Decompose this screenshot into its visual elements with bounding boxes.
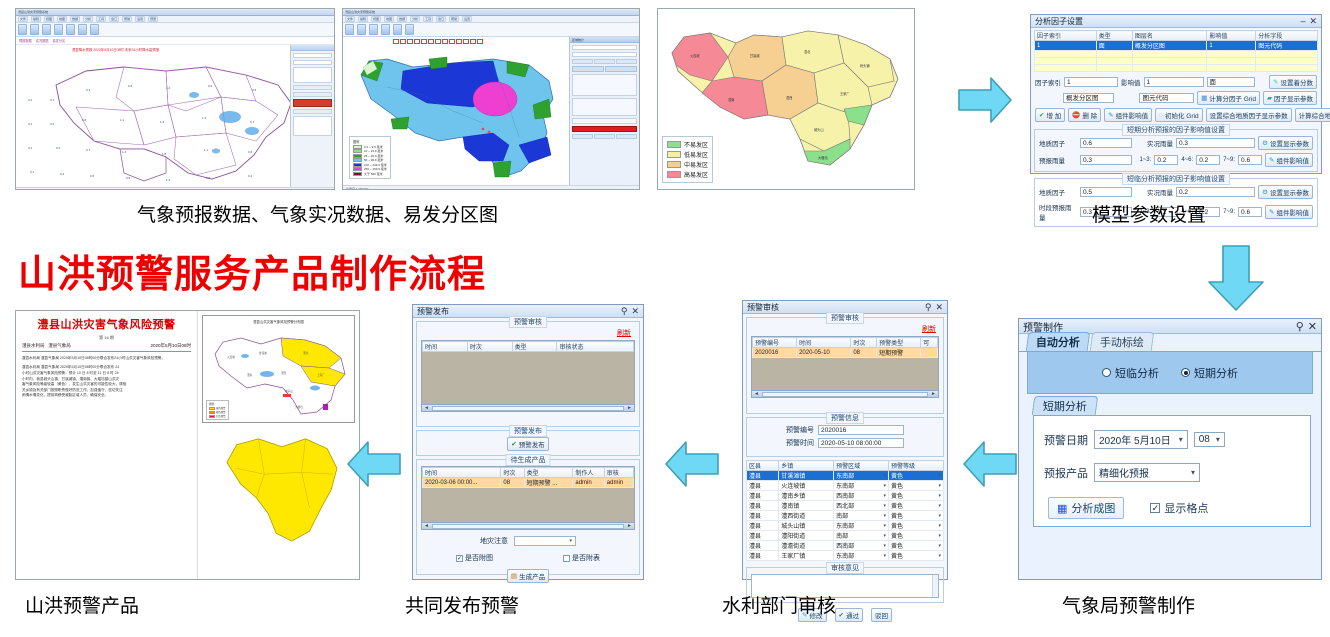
product-table-header: 时间时次类型制作人审核 <box>423 468 634 478</box>
svg-text:0.5: 0.5 <box>252 88 257 92</box>
table-row[interactable]: 澧县甘溪滩镇东南部▾黄色▾ <box>747 471 944 481</box>
radio-nowcast-analysis[interactable]: 短临分析 <box>1102 365 1159 381</box>
close-icon[interactable]: ✕ <box>1308 320 1317 333</box>
legend-swatch <box>667 151 681 158</box>
legend-label: 高易发区 <box>684 170 708 179</box>
analysis-mode-radios[interactable]: 短临分析 短期分析 <box>1027 352 1313 394</box>
table-cell <box>1035 65 1097 72</box>
set-display-param-button[interactable]: ⚙设置显示参数 <box>1258 136 1313 150</box>
menu-item[interactable]: 地图 <box>384 16 394 22</box>
component-influence-button[interactable]: ✎组件影响值 <box>1104 108 1152 122</box>
doc-body-line: 雨情水情变化，提前转移受威胁区域人员，确保安全。 <box>22 393 191 399</box>
seg-1-input[interactable]: 0.2 <box>1154 155 1178 165</box>
table-row[interactable]: 澧县澧南镇西北部▾黄色▾ <box>747 501 944 511</box>
refresh-link[interactable]: 刷新 <box>617 330 631 337</box>
table-cell[interactable]: 黄色▾ <box>889 531 944 541</box>
screenshot-warning-product[interactable]: 澧县山洪灾害气象风险预警 第 16 期 澧县水利局 澧县气象局 2020年5月1… <box>15 310 360 580</box>
tab-shortterm[interactable]: 短期分析 <box>1032 396 1099 415</box>
scroll-left-arrow[interactable]: ◄ <box>752 391 761 397</box>
table-cell[interactable]: 黄色▾ <box>889 551 944 561</box>
product-map-legend: 图例黄色预警橙色预警红色预警 <box>206 400 229 420</box>
table-cell: 澧县 <box>747 501 779 511</box>
product-doc-title: 澧县山洪灾害气象风险预警 <box>22 316 191 332</box>
column-header[interactable]: 预警类型 <box>877 338 921 348</box>
factor-dialog-titlebar: 分析因子设置 – ✕ <box>1031 15 1321 28</box>
attach-table-checkbox[interactable]: 是否附表 <box>563 553 600 563</box>
reject-button[interactable]: 驳回 <box>871 608 892 622</box>
checkbox-box: ✓ <box>456 555 463 562</box>
svg-text:1.4: 1.4 <box>122 150 127 154</box>
product-warning-area-map <box>214 429 344 547</box>
audit-info-group: 预警信息 预警编号 2020016 预警时间 2020-05-10 08:00:… <box>746 417 944 457</box>
menu-item[interactable]: 地图 <box>57 16 67 22</box>
table-row[interactable]: 2020-03-06 00:00...08短期预警 ...adminadmin <box>423 478 634 488</box>
menu-item[interactable]: 窗口 <box>436 16 446 22</box>
svg-text:城头山: 城头山 <box>814 127 824 132</box>
legend-swatch <box>667 141 681 148</box>
table-row[interactable]: 澧县澧西街道南部▾黄色▾ <box>747 511 944 521</box>
gis-menubar[interactable]: 文件 编辑 视图 地图 数据 分析 工具 窗口 帮助 设置 预警 <box>16 16 334 23</box>
table-row[interactable] <box>1035 51 1318 58</box>
menu-item[interactable]: 帮助 <box>122 16 132 22</box>
svg-text:1.6: 1.6 <box>160 120 165 124</box>
set-score-param-button[interactable]: ✎ 设置着分数 <box>1269 75 1317 89</box>
legend-label: 25 ~ 49.9 毫米 <box>364 154 383 158</box>
release-audit-table[interactable]: 时间时次类型审核状态 <box>422 341 634 352</box>
minimize-icon[interactable]: – <box>1300 16 1305 26</box>
table-cell: 澧县 <box>747 551 779 561</box>
arrow-left-3 <box>958 434 1020 499</box>
chevron-down-icon: ▾ <box>1191 468 1195 477</box>
close-icon[interactable]: ✕ <box>1309 16 1317 27</box>
svg-text:0.9: 0.9 <box>126 176 131 180</box>
chevron-down-icon: ▾ <box>938 513 941 519</box>
svg-text:0.6: 0.6 <box>248 150 253 154</box>
svg-text:0.1: 0.1 <box>28 146 33 150</box>
table-cell[interactable]: 黄色▾ <box>889 511 944 521</box>
group-label: 预警审核 <box>826 312 864 324</box>
geo-factor-input[interactable]: 0.6 <box>1080 138 1132 148</box>
screenshot-observed-data[interactable]: 澧县山洪灾害预警系统 文件 编辑 视图 地图 数据 分析 工具 窗口 帮助 设置 <box>342 8 640 190</box>
menu-item[interactable]: 工具 <box>96 16 106 22</box>
warn-hour-select[interactable]: 08 ▾ <box>1194 432 1225 447</box>
menu-item[interactable]: 视图 <box>44 16 54 22</box>
svg-text:大堰垱: 大堰垱 <box>295 405 303 409</box>
column-header[interactable]: 预警等级 <box>889 461 944 471</box>
toolbar-icon[interactable] <box>54 24 63 35</box>
component-influence-button-3[interactable]: ✎组件影响值 <box>1265 205 1313 219</box>
svg-text:城头山: 城头山 <box>285 389 293 393</box>
menu-item[interactable]: 帮助 <box>449 16 459 22</box>
svg-text:澧南: 澧南 <box>728 97 734 102</box>
table-cell[interactable]: 东南部▾ <box>834 481 889 491</box>
table-cell[interactable]: 黄色▾ <box>889 501 944 511</box>
menu-item[interactable]: 分析 <box>410 16 420 22</box>
table-cell: 城头山镇 <box>779 521 834 531</box>
scroll-right-arrow[interactable]: ► <box>625 523 634 529</box>
detail-table-body[interactable]: 澧县甘溪滩镇东南部▾黄色▾澧县火连坡镇东南部▾黄色▾澧县澧南乡镇西南部▾黄色▾澧… <box>747 471 944 561</box>
type-select[interactable]: 面 <box>1207 77 1255 87</box>
check-icon: ✔ <box>511 440 516 448</box>
init-grid-button[interactable]: ◌初始化 Grid <box>1155 108 1202 122</box>
column-header[interactable]: 时次 <box>467 342 512 352</box>
table-cell: 澧县 <box>747 521 779 531</box>
grid-icon: ▦ <box>1057 502 1066 515</box>
svg-text:王家厂: 王家厂 <box>317 373 325 377</box>
column-header[interactable]: 时间 <box>797 338 851 348</box>
menu-item[interactable]: 分析 <box>83 16 93 22</box>
release-button[interactable]: ✔ 预警发布 <box>507 437 548 451</box>
release-action-group: 预警发布 ✔ 预警发布 <box>416 430 640 456</box>
obs-rain-label-2: 实况雨量 <box>1135 187 1173 197</box>
svg-text:0.1: 0.1 <box>50 98 55 102</box>
svg-text:0.2: 0.2 <box>56 146 61 150</box>
table-row[interactable]: 澧县澧阳街道南部▾黄色▾ <box>747 531 944 541</box>
table-row[interactable]: 20200162020-05-1008短期预警 <box>753 348 938 358</box>
pin-icon[interactable]: ⚲ <box>621 306 628 317</box>
caption-source-data: 气象预报数据、气象实况数据、易发分区图 <box>137 200 498 227</box>
legend-swatch <box>209 415 215 418</box>
table-cell[interactable]: 黄色▾ <box>889 471 944 481</box>
toolbar-icon[interactable] <box>381 24 390 35</box>
column-header[interactable]: 审核状态 <box>557 342 634 352</box>
svg-text:澧北: 澧北 <box>303 351 309 355</box>
influence-label: 影响值 <box>1121 77 1141 87</box>
group-label: 预警信息 <box>826 412 864 424</box>
warn-date-label: 预警日期 <box>1044 432 1088 448</box>
delete-button[interactable]: ⛔删 除 <box>1068 108 1101 122</box>
column-header[interactable]: 可 <box>921 338 938 348</box>
chevron-down-icon: ▾ <box>884 523 887 529</box>
svg-text:0.2: 0.2 <box>28 98 33 102</box>
legend-swatch <box>353 172 362 176</box>
table-cell[interactable]: 黄色▾ <box>889 481 944 491</box>
table-cell <box>1096 51 1132 58</box>
column-header[interactable]: 乡镇 <box>779 461 834 471</box>
disaster-note-select[interactable]: ▾ <box>514 536 576 546</box>
toolbar-icon[interactable] <box>78 24 87 35</box>
gis2-toolbar[interactable] <box>343 23 639 37</box>
show-grid-checkbox[interactable]: ✓ 显示格点 <box>1150 500 1208 516</box>
arrow-left-2 <box>660 434 722 499</box>
svg-text:澧西: 澧西 <box>786 95 792 100</box>
legend-title: 图例 <box>353 139 387 144</box>
svg-text:澧西: 澧西 <box>281 371 287 375</box>
toolbar-icon[interactable] <box>42 24 51 35</box>
menu-item[interactable]: 窗口 <box>109 16 119 22</box>
seg-2-label: 4~6: <box>1181 157 1193 163</box>
column-header[interactable]: 预警编号 <box>753 338 797 348</box>
tab-auto-analysis[interactable]: 自动分析 <box>1026 332 1091 351</box>
factor-display-param-button[interactable]: ▰ 因子显示参数 <box>1263 91 1317 105</box>
seg-3-input-2[interactable]: 0.6 <box>1238 207 1262 217</box>
table-cell <box>1207 65 1256 72</box>
calc-factor-grid-button[interactable]: ▦ 计算分因子 Grid <box>1197 91 1260 105</box>
column-header[interactable]: 分析字段 <box>1256 31 1318 41</box>
attach-map-checkbox[interactable]: ✓ 是否附图 <box>456 553 493 563</box>
gis2-window-titlebar: 澧县山洪灾害预警系统 <box>343 9 639 16</box>
shortterm-form[interactable]: 预警日期 2020年 5月10日 ▾ 08 ▾ 预报产品 精细化预报 ▾ <box>1033 415 1311 527</box>
chevron-down-icon: ▾ <box>884 493 887 499</box>
table-row[interactable]: 澧县王家厂镇东南部▾黄色▾ <box>747 551 944 561</box>
svg-text:0.8: 0.8 <box>82 118 87 122</box>
toolbar-icon[interactable] <box>90 24 99 35</box>
toolbar-icon[interactable] <box>405 24 414 35</box>
rainfall-legend: 图例 0.1 ~ 9.9 毫米10 ~ 24.9 毫米25 ~ 49.9 毫米5… <box>349 136 391 180</box>
svg-text:王家厂: 王家厂 <box>840 91 850 96</box>
gis-tab[interactable]: 易发分区 <box>53 38 66 43</box>
make-subtabstrip[interactable]: 短期分析 <box>1019 398 1321 415</box>
warn-id-input[interactable]: 2020016 <box>818 425 904 435</box>
menu-item[interactable]: 预警 <box>148 16 158 22</box>
menu-item[interactable]: 编辑 <box>31 16 41 22</box>
tab-manual-draw[interactable]: 手动标绘 <box>1090 332 1155 351</box>
column-header[interactable]: 类型 <box>512 342 557 352</box>
gis-side-panel[interactable] <box>290 45 334 187</box>
add-button[interactable]: ✔增 加 <box>1035 108 1065 122</box>
svg-text:0.4: 0.4 <box>248 174 253 178</box>
table-cell[interactable]: 南部▾ <box>834 531 889 541</box>
rainfall-map-canvas[interactable]: 图例 0.1 ~ 9.9 毫米10 ~ 24.9 毫米25 ~ 49.9 毫米5… <box>343 37 639 185</box>
column-header[interactable]: 类型 <box>524 468 573 478</box>
seg-3-label: 7~9: <box>1223 157 1235 163</box>
table-cell: 1 <box>1035 41 1097 51</box>
svg-text:1.2: 1.2 <box>166 178 171 182</box>
table-cell[interactable]: 东南部▾ <box>834 521 889 531</box>
gis-tab[interactable]: 实况数据 <box>36 38 49 43</box>
table-cell[interactable]: 东南部▾ <box>834 471 889 481</box>
scroll-left-arrow[interactable]: ◄ <box>422 523 431 529</box>
factor-table[interactable]: 因子索引类型图层名影响值分析字段 1面概发分区图1图元代码 <box>1034 30 1318 72</box>
toolbar-icon[interactable] <box>369 24 378 35</box>
legend-item: 高易发区 <box>667 170 708 179</box>
product-doc-meta-left: 澧县水利局 澧县气象局 <box>22 343 71 349</box>
audit-table[interactable]: 预警编号时间时次预警类型可 20200162020-05-1008短期预警 <box>752 337 938 358</box>
legend-item: 100 ~ 249.9 毫米 <box>353 163 387 167</box>
generate-product-button[interactable]: ▤ 生成产品 <box>507 569 549 583</box>
toolbar-icon[interactable] <box>30 24 39 35</box>
svg-text:0.6: 0.6 <box>128 84 133 88</box>
toolbar-icon[interactable] <box>66 24 75 35</box>
table-cell: admin <box>604 478 633 488</box>
chevron-down-icon: ▾ <box>884 533 887 539</box>
geo-factor-input-2[interactable]: 0.5 <box>1080 187 1132 197</box>
svg-text:火连坡: 火连坡 <box>690 53 700 58</box>
table-row[interactable]: 1面概发分区图1图元代码 <box>1035 41 1318 51</box>
warning-audit-panel[interactable]: 预警审核 ⚲ ✕ 预警审核 刷新 预警编号时间时次预警类型可 202001620… <box>742 300 948 580</box>
table-row[interactable]: 澧县澧南乡镇西南部▾黄色▾ <box>747 491 944 501</box>
table-cell[interactable]: 黄色▾ <box>889 541 944 551</box>
factor-index-input[interactable]: 1 <box>1064 77 1118 87</box>
table-cell <box>1256 65 1318 72</box>
chevron-down-icon: ▾ <box>569 536 572 546</box>
column-header[interactable]: 时次 <box>501 468 524 478</box>
close-icon[interactable]: ✕ <box>631 306 639 317</box>
table-cell <box>1207 58 1256 65</box>
approve-button[interactable]: ✔通过 <box>835 608 863 622</box>
table-cell <box>1035 51 1097 58</box>
make-tabstrip[interactable]: 自动分析 手动标绘 <box>1019 334 1321 352</box>
table-cell: admin <box>573 478 604 488</box>
warning-make-panel[interactable]: 预警制作 ⚲ ✕ 自动分析 手动标绘 短临分析 短期分析 <box>1018 318 1322 580</box>
seg-3-label-2: 7~9: <box>1223 209 1235 215</box>
legend-item: 中易发区 <box>667 160 708 169</box>
svg-text:0.2: 0.2 <box>60 172 65 176</box>
field-select[interactable]: 图元代码 <box>1139 93 1194 103</box>
legend-label: 0.1 ~ 9.9 毫米 <box>364 145 383 149</box>
factor-table-body[interactable]: 1面概发分区图1图元代码 <box>1035 41 1318 72</box>
obs-rain-input[interactable]: 0.3 <box>1176 138 1255 148</box>
calc-composite-grid-button[interactable]: 计算综合地质 Grid <box>1295 108 1330 122</box>
toolbar-icon[interactable] <box>393 24 402 35</box>
column-header[interactable]: 区县 <box>747 461 779 471</box>
table-cell <box>1256 51 1318 58</box>
refresh-link[interactable]: 刷新 <box>922 326 936 333</box>
scroll-right-arrow[interactable]: ► <box>929 391 938 397</box>
scroll-left-arrow[interactable]: ◄ <box>422 405 431 411</box>
caption-make: 气象局预警制作 <box>1062 591 1195 618</box>
chevron-down-icon: ▾ <box>938 533 941 539</box>
product-doc-body: 澧县水利局 澧县气象局 2020年5月10日08时00分联合发布 24小时山洪灾… <box>22 365 191 398</box>
gear-icon: ⚙ <box>1262 188 1268 196</box>
screenshot-hazard-zoning[interactable]: 火连坡甘溪滩澧北 码头铺澧南澧西 王家厂城头山大堰垱 不易发区低易发区中易发区高… <box>657 8 915 190</box>
table-cell: 图元代码 <box>1256 41 1318 51</box>
menu-item[interactable]: 数据 <box>397 16 407 22</box>
seg-1-label: 1~3: <box>1139 157 1151 163</box>
seg-3-input[interactable]: 0.6 <box>1238 155 1262 165</box>
table-row[interactable] <box>1035 65 1318 72</box>
table-cell: 短期预警 <box>877 348 921 358</box>
layer-select[interactable]: 概发分区图 <box>1063 93 1114 103</box>
screenshot-forecast-data[interactable]: 澧县山洪灾害预警系统 文件 编辑 视图 地图 数据 分析 工具 窗口 帮助 设置… <box>15 8 335 190</box>
arrow-right-1 <box>955 70 1015 135</box>
audit-table-body[interactable]: 20200162020-05-1008短期预警 <box>753 348 938 358</box>
factor-table-header: 因子索引类型图层名影响值分析字段 <box>1035 31 1318 41</box>
table-cell[interactable]: 西北部▾ <box>834 501 889 511</box>
table-cell: 甘溪滩镇 <box>779 471 834 481</box>
legend-swatch <box>353 163 362 167</box>
horizontal-scrollbar[interactable] <box>432 406 624 411</box>
table-cell: 2020016 <box>753 348 797 358</box>
column-header[interactable]: 时间 <box>423 468 501 478</box>
column-header[interactable]: 时间 <box>423 342 468 352</box>
arrow-left-1 <box>342 434 404 499</box>
table-row[interactable]: 澧县火连坡镇东南部▾黄色▾ <box>747 481 944 491</box>
table-cell[interactable]: 东南部▾ <box>834 551 889 561</box>
column-header[interactable]: 时次 <box>851 338 877 348</box>
menu-item[interactable]: 工具 <box>423 16 433 22</box>
set-display-param-button-2[interactable]: ⚙设置显示参数 <box>1258 185 1313 199</box>
factor-settings-dialog[interactable]: 分析因子设置 – ✕ 因子索引类型图层名影响值分析字段 1面概发分区图1图元代码… <box>1030 14 1322 174</box>
warning-release-panel[interactable]: 预警发布 ⚲ ✕ 预警审核 刷新 时间时次类型审核状态 ◄ ► 预警发布 <box>412 304 644 580</box>
svg-text:甘溪滩: 甘溪滩 <box>750 53 760 58</box>
scroll-right-arrow[interactable]: ► <box>625 405 634 411</box>
table-row[interactable]: 澧县城头山镇东南部▾黄色▾ <box>747 521 944 531</box>
legend-swatch <box>353 154 362 158</box>
column-header[interactable]: 影响值 <box>1207 31 1256 41</box>
delete-icon: ⛔ <box>1072 111 1080 119</box>
gis2-menubar[interactable]: 文件 编辑 视图 地图 数据 分析 工具 窗口 帮助 设置 <box>343 16 639 23</box>
column-header[interactable]: 审核 <box>604 468 633 478</box>
warn-time-input[interactable]: 2020-05-10 08:00:00 <box>818 438 904 448</box>
pin-icon[interactable]: ⚲ <box>1296 320 1304 333</box>
warn-date-input[interactable]: 2020年 5月10日 ▾ <box>1094 430 1188 449</box>
table-cell[interactable]: 西南部▾ <box>834 541 889 551</box>
column-header[interactable]: 图层名 <box>1132 31 1206 41</box>
product-doc-meta-date: 2020年5月10日08时 <box>150 343 191 349</box>
menu-item[interactable]: 数据 <box>70 16 80 22</box>
product-table-body[interactable]: 2020-03-06 00:00...08短期预警 ...adminadmin <box>423 478 634 488</box>
warn-time-label: 预警时间 <box>786 438 814 448</box>
pen-icon: ✎ <box>1269 156 1274 164</box>
svg-text:0.7: 0.7 <box>86 148 91 152</box>
column-header[interactable]: 制作人 <box>573 468 604 478</box>
table-cell <box>921 348 938 358</box>
forecast-map-canvas[interactable]: 澧县降水预报 2020年5月10日08时 未来24小时降水量预报 <box>16 45 334 187</box>
table-cell[interactable]: 西南部▾ <box>834 491 889 501</box>
influence-input[interactable]: 1 <box>1144 77 1204 87</box>
factor-dialog-title: 分析因子设置 <box>1035 16 1296 27</box>
pending-products-table[interactable]: 时间时次类型制作人审核 2020-03-06 00:00...08短期预警 ..… <box>422 467 634 488</box>
menu-item[interactable]: 编辑 <box>358 16 368 22</box>
audit-detail-table[interactable]: 区县乡镇预警区域预警等级 澧县甘溪滩镇东南部▾黄色▾澧县火连坡镇东南部▾黄色▾澧… <box>746 460 944 561</box>
menu-item[interactable]: 设置 <box>462 16 472 22</box>
obs-rain-input-2[interactable]: 0.2 <box>1176 187 1255 197</box>
toolbar-icon[interactable] <box>18 24 27 35</box>
pin-icon[interactable]: ⚲ <box>925 302 932 313</box>
svg-text:0.1: 0.1 <box>28 122 33 126</box>
column-header[interactable]: 因子索引 <box>1035 31 1097 41</box>
close-icon[interactable]: ✕ <box>935 302 943 313</box>
set-composite-display-button[interactable]: 设置综合地质因子显示参数 <box>1206 108 1292 122</box>
legend-swatch <box>209 407 215 410</box>
gis-tab[interactable]: 预报数据 <box>19 38 32 43</box>
component-influence-button-2[interactable]: ✎组件影响值 <box>1265 153 1313 167</box>
forecast-product-select[interactable]: 精细化预报 ▾ <box>1094 463 1200 482</box>
horizontal-scrollbar[interactable] <box>432 524 624 529</box>
svg-text:1.2: 1.2 <box>166 86 171 90</box>
svg-text:码头铺: 码头铺 <box>860 63 870 68</box>
table-cell[interactable]: 黄色▾ <box>889 521 944 531</box>
seg-2-input[interactable]: 0.2 <box>1196 155 1220 165</box>
toolbar-icon[interactable] <box>345 24 354 35</box>
legend-item: 大于 500 毫米 <box>353 172 387 176</box>
radio-shortterm-analysis[interactable]: 短期分析 <box>1181 365 1238 381</box>
gis2-side-panel[interactable]: 区域统计 <box>569 37 639 185</box>
gis-toolbar[interactable] <box>16 23 334 37</box>
column-header[interactable]: 预警区域 <box>834 461 889 471</box>
menu-item[interactable]: 文件 <box>18 16 28 22</box>
table-cell: 澧县 <box>747 471 779 481</box>
table-row[interactable]: 澧县澧澹街道西南部▾黄色▾ <box>747 541 944 551</box>
menu-item[interactable]: 文件 <box>345 16 355 22</box>
legend-label: 50 ~ 99.9 毫米 <box>364 158 383 162</box>
table-cell: 澧县 <box>747 531 779 541</box>
table-cell[interactable]: 黄色▾ <box>889 491 944 501</box>
toolbar-icon[interactable] <box>357 24 366 35</box>
table-cell[interactable]: 南部▾ <box>834 511 889 521</box>
analyze-plot-button[interactable]: ▦ 分析成图 <box>1048 497 1124 519</box>
menu-item[interactable]: 视图 <box>371 16 381 22</box>
group-label: 预警发布 <box>509 425 547 437</box>
caption-product: 山洪预警产品 <box>25 591 139 618</box>
table-row[interactable] <box>1035 58 1318 65</box>
column-header[interactable]: 类型 <box>1096 31 1132 41</box>
horizontal-scrollbar[interactable] <box>762 392 928 397</box>
menu-item[interactable]: 设置 <box>135 16 145 22</box>
fcst-rain-input[interactable]: 0.3 <box>1080 155 1132 165</box>
legend-label: 10 ~ 24.9 毫米 <box>364 149 383 153</box>
